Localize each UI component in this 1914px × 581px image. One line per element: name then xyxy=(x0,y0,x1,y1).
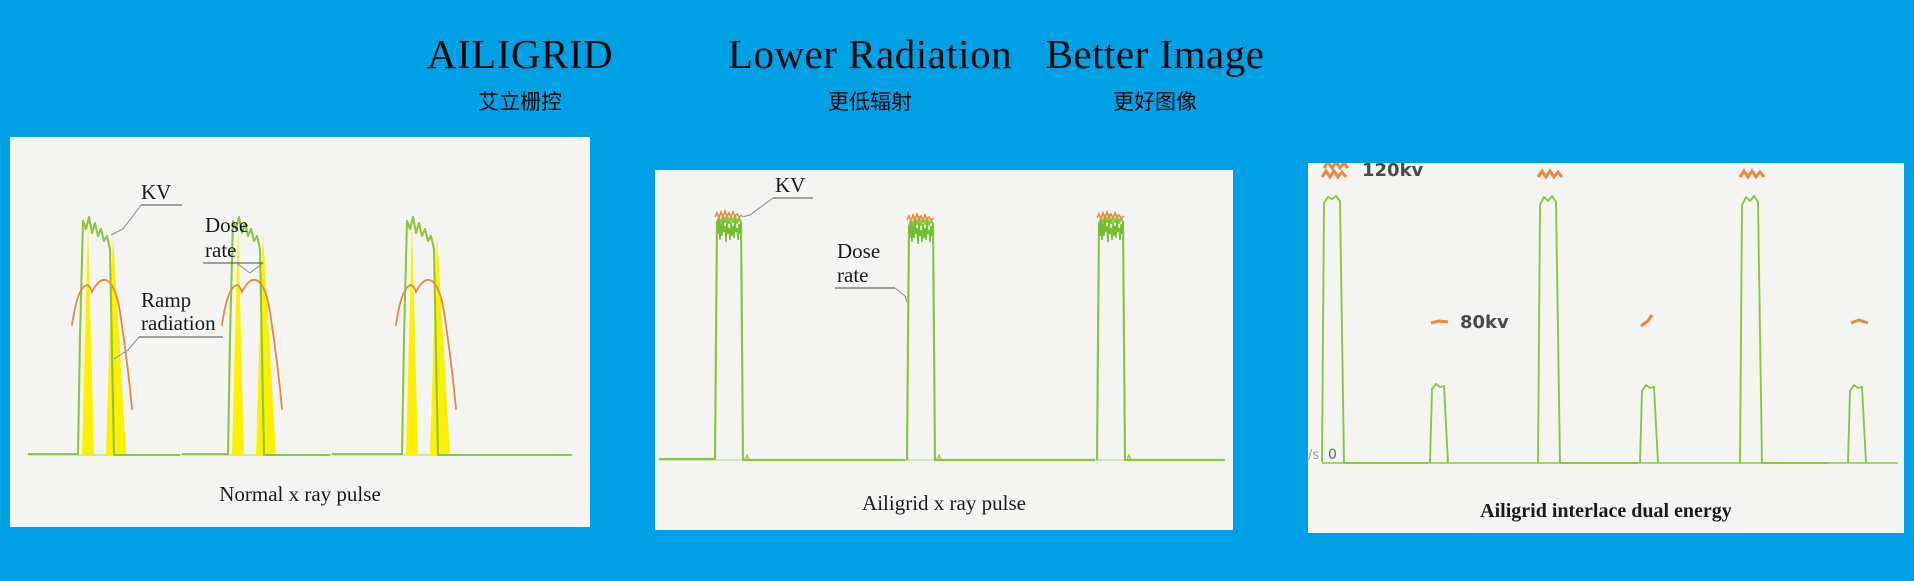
dash-icon-legend xyxy=(1431,321,1448,323)
chart-ailigrid-interlace-dual-energy: 120kv 80kv /s 0 xyxy=(1308,163,1904,533)
ramp-fill-3 xyxy=(406,223,418,455)
annotation-dose-rate-label-2: rate xyxy=(837,263,868,287)
legend-120kv: 120kv xyxy=(1324,163,1424,181)
ramp-fill-1 xyxy=(82,223,94,455)
caption-ailigrid-x-ray-pulse: Ailigrid x ray pulse xyxy=(655,491,1233,516)
annotation-kv: KV xyxy=(742,173,813,217)
dash-icon-2 xyxy=(1641,315,1652,326)
annotation-dose-rate: Dose rate xyxy=(835,239,907,302)
dose-rate-trace-1 xyxy=(28,217,180,455)
caption-normal-x-ray-pulse: Normal x ray pulse xyxy=(10,482,590,507)
annotation-ramp-radiation: Ramp radiation xyxy=(114,288,223,359)
panel-ailigrid-interlace-dual-energy: 120kv 80kv /s 0 Ailigrid interlace dual … xyxy=(1308,163,1904,533)
dose-rate-pulse-3 xyxy=(1097,215,1225,460)
annotation-ramp-label-2: radiation xyxy=(141,311,216,335)
ramp-fill-1b xyxy=(106,233,126,455)
header-banner: AILIGRID 艾立栅控 Lower Radiation 更低辐射 Bette… xyxy=(0,0,1914,140)
panel-normal-x-ray-pulse: KV Dose rate Ramp radiation Normal x ray… xyxy=(10,137,590,527)
pulse-120kv-2 xyxy=(1538,196,1638,463)
pulse-120kv-1 xyxy=(1322,196,1428,463)
pulse-80kv-3 xyxy=(1848,385,1866,463)
legend-120kv-label: 120kv xyxy=(1362,163,1424,181)
chart-normal-x-ray-pulse: KV Dose rate Ramp radiation xyxy=(10,137,590,527)
annotation-dose-rate-label-2: rate xyxy=(205,238,236,262)
chart-ailigrid-x-ray-pulse: KV Dose rate xyxy=(655,170,1233,530)
squiggle-icon-2 xyxy=(1538,171,1562,177)
dose-rate-trace-3 xyxy=(332,217,572,455)
pulse-80kv-2 xyxy=(1640,385,1658,463)
pulse-80kv-1 xyxy=(1430,384,1448,463)
ramp-fill-3b xyxy=(430,233,450,455)
headline-better-image: Better Image 更好图像 xyxy=(895,30,1415,117)
dash-icon-3 xyxy=(1851,320,1868,323)
annotation-dose-rate-label-1: Dose xyxy=(205,213,248,237)
dose-rate-pulse-2 xyxy=(907,217,1095,460)
squiggle-icon-legend xyxy=(1322,171,1346,177)
pulse-120kv-3 xyxy=(1740,196,1828,463)
axis-unit-label: /s xyxy=(1308,448,1319,463)
annotation-kv-label: KV xyxy=(775,173,805,197)
headline-better-image-en: Better Image xyxy=(895,30,1415,78)
axis-zero-label: 0 xyxy=(1328,447,1337,463)
annotation-kv-label: KV xyxy=(141,180,171,204)
panel-ailigrid-x-ray-pulse: KV Dose rate Ailigrid x ray pulse xyxy=(655,170,1233,530)
squiggle-icon xyxy=(1324,163,1348,168)
squiggle-icon-3 xyxy=(1740,171,1764,177)
legend-80kv: 80kv xyxy=(1460,312,1509,333)
caption-ailigrid-interlace-dual-energy: Ailigrid interlace dual energy xyxy=(1308,500,1904,523)
annotation-dose-rate: Dose rate xyxy=(203,213,263,273)
annotation-dose-rate-label-1: Dose xyxy=(837,239,880,263)
annotation-ramp-label-1: Ramp xyxy=(141,288,191,312)
annotation-kv: KV xyxy=(111,180,182,235)
headline-better-image-zh: 更好图像 xyxy=(895,87,1415,117)
legend-80kv-label: 80kv xyxy=(1460,312,1509,333)
